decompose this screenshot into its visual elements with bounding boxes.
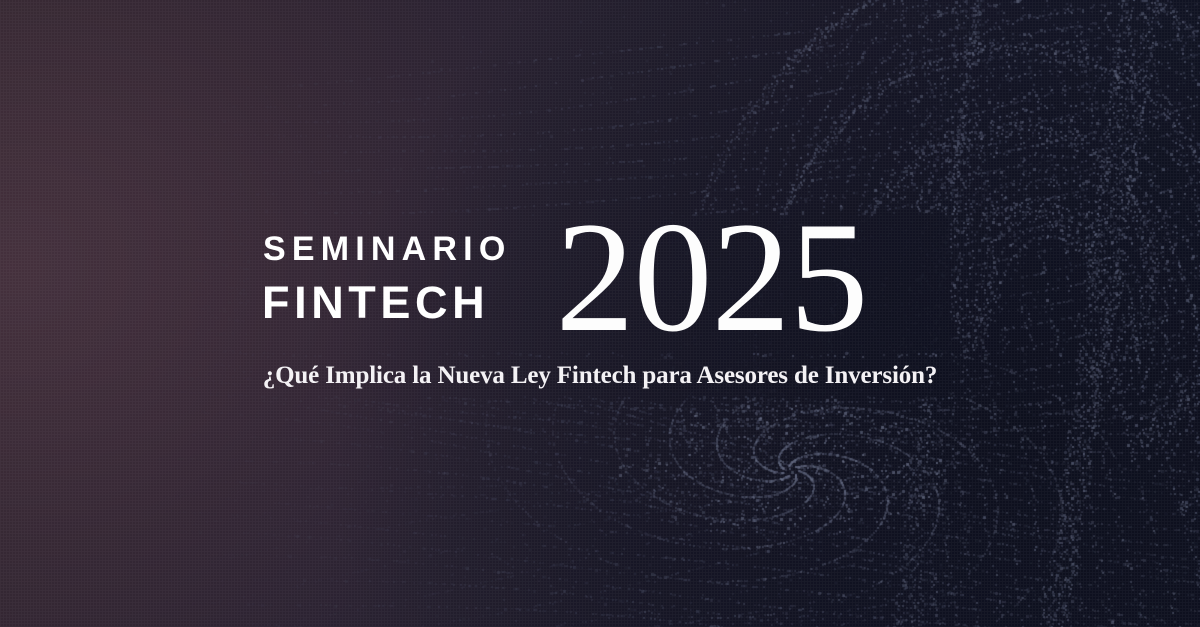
year-label: 2025 <box>555 216 867 339</box>
title-row: SEMINARIO FINTECH 2025 <box>262 222 867 339</box>
wordmark: SEMINARIO FINTECH <box>262 222 511 325</box>
banner-content: SEMINARIO FINTECH 2025 ¿Qué Implica la N… <box>0 0 1200 627</box>
title-line-seminario: SEMINARIO <box>262 232 511 266</box>
subtitle: ¿Qué Implica la Nueva Ley Fintech para A… <box>262 362 938 390</box>
seminar-banner: SEMINARIO FINTECH 2025 ¿Qué Implica la N… <box>0 0 1200 627</box>
title-line-fintech: FINTECH <box>262 280 511 325</box>
